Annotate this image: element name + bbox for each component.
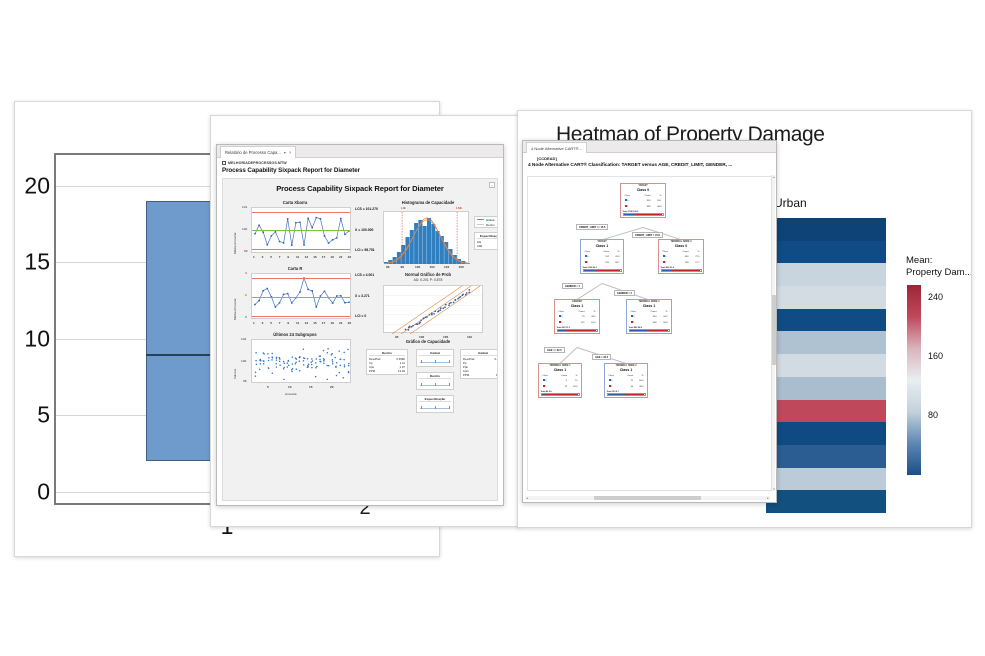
xbar-xtick: 5: [270, 255, 272, 259]
global-box-title: Global: [463, 351, 498, 356]
rchart-ytick-0: 0: [245, 315, 247, 319]
xbar-ytick-0: 99: [244, 249, 247, 253]
cart-node-bar-blue: [608, 394, 626, 395]
cart-node-bar: [661, 269, 702, 272]
cart-node-row: 154855.8: [631, 321, 668, 325]
cart-node[interactable]: TERMINAL NODE 2Class 1ClassCount% 07260.…: [604, 363, 648, 398]
stat-value: 0.4073: [494, 357, 498, 361]
cart-node-bar-red: [596, 270, 620, 271]
class-swatch-icon: [543, 385, 545, 387]
cart-node-cell: Class: [559, 311, 571, 314]
rchart-xtick: 23: [348, 321, 351, 325]
class-swatch-icon: [609, 379, 611, 381]
plot-series: [384, 212, 470, 264]
cart-node-row: 067.5: [543, 379, 578, 383]
rchart-ucl-line: [252, 278, 350, 279]
capability-strip-tick: [449, 406, 450, 409]
plot-series: [252, 208, 352, 254]
cart-node[interactable]: TARGETClass 1ClassCount% 051243.3 167056…: [580, 239, 624, 274]
cart-node-cell: Class: [663, 251, 675, 254]
cart-node-cell: 434: [644, 315, 656, 319]
heatmap-colorbar-tick-160: 160: [928, 351, 943, 361]
capability-strip-tick: [435, 360, 436, 363]
heatmap-colorbar: [907, 285, 921, 475]
rchart-xtick: 9: [287, 321, 289, 325]
cart-node-cell: 1: [625, 205, 637, 209]
rchart-lcl-line: [252, 316, 350, 317]
xbar-panel-title: Carta Xbarra: [235, 200, 355, 205]
cart-node-row: 112261.0: [559, 321, 596, 325]
cart-node-cell: Class: [625, 195, 637, 198]
subgroups-ytick-1: 100: [241, 359, 246, 363]
cart-node-cell: 0: [609, 379, 620, 383]
heatmap-cell: [766, 309, 886, 332]
cart-node-cell: 44.2: [658, 315, 667, 319]
normplot-subtitle: AD: 0.201 P: 0.878: [373, 278, 483, 282]
stat-label: PPM: [463, 373, 469, 377]
legend-swatch-dentro: [477, 224, 484, 225]
xbar-lcl-line: [252, 249, 350, 250]
capability-strip-title: Dentro: [419, 374, 451, 379]
cart-node-bar: [629, 329, 670, 332]
class-swatch-icon: [663, 261, 665, 263]
worksheet-icon: [222, 161, 226, 165]
subgroups-xtick: 20: [330, 385, 333, 389]
cart-node-bar-red: [648, 330, 668, 331]
xbar-ucl-label: LCS = 101.270: [355, 207, 378, 211]
chevron-right-icon[interactable]: ▸: [766, 496, 770, 500]
cart-node-table: ClassCount% 051243.3 167056.7: [583, 249, 622, 267]
cart-split-label: GENDER = 1: [562, 283, 583, 289]
capability-strip-title: Global: [419, 351, 451, 356]
within-row: PPM13.40: [369, 369, 405, 373]
cart-split-label: AGE > 32.5: [592, 354, 611, 360]
heatmap-cell: [766, 377, 886, 400]
capability-panel-title: Gráfico de Capacidade: [373, 339, 483, 344]
heatmap-cell: [766, 241, 886, 264]
class-swatch-icon: [609, 385, 611, 387]
histogram-xtick: 104: [444, 265, 449, 269]
rchart-xtick: 7: [279, 321, 281, 325]
cart-node-table: ClassCount% 043872.3 116827.7: [661, 249, 702, 267]
cart-split-label: GENDER = 2: [614, 290, 635, 296]
cart-node-cell: 72.3: [690, 255, 699, 259]
cart-node-row: 043872.3: [663, 255, 700, 259]
xbar-xtick: 11: [296, 255, 299, 259]
boxplot-ytick-20: 20: [24, 172, 50, 199]
cart-node-cell: 0: [625, 199, 637, 203]
cart-node-cell: 39.0: [586, 315, 595, 319]
cart-node-row: ClassCount%: [559, 311, 596, 314]
subgroups-ytick-2: 102: [241, 337, 246, 341]
boxplot-ytick-15: 15: [24, 249, 50, 276]
boxplot-ytick-5: 5: [37, 402, 50, 429]
class-swatch-icon: [663, 255, 665, 257]
cart-heading: 4 Node Alternative CART® Classification:…: [523, 161, 776, 171]
cart-tree-canvas[interactable]: TARGETClass 0ClassCount% 095053.1 183846…: [527, 176, 772, 491]
spec-row: LSE105: [477, 244, 498, 248]
xbar-xtick: 21: [339, 255, 342, 259]
cart-node-cell: %: [652, 195, 661, 198]
cart-node[interactable]: TERMINAL NODE 2Class 1ClassCount% 043444…: [626, 299, 672, 334]
cart-node-cell: 670: [597, 261, 609, 265]
cart-node-bar-blue: [558, 330, 567, 331]
rchart-xtick: 15: [313, 321, 316, 325]
cart-node-cell: 6: [555, 379, 567, 383]
breadcrumb[interactable]: MELHORIADEPROCESSOS.MTW: [217, 158, 503, 166]
cart-node-cell: 0: [559, 315, 571, 319]
cart-node-cell: %: [611, 251, 620, 254]
histogram-plot: [383, 211, 469, 263]
xbar-center-label: X = 100.000: [355, 228, 373, 232]
histogram-xtick: 98: [401, 265, 404, 269]
cart-tab[interactable]: 4 Node Alternative CART®...: [526, 142, 587, 153]
rchart-ucl-label: LCS = 4.001: [355, 273, 374, 277]
cart-node-table: ClassCount% 043444.2 154855.8: [629, 309, 670, 327]
subgroups-xtick: 5: [267, 385, 269, 389]
xbar-xtick: 3: [262, 255, 264, 259]
minitab-heading: Process Capability Sixpack Report for Di…: [217, 166, 503, 177]
cart-vscroll-thumb[interactable]: [772, 295, 776, 365]
capability-strip-tick: [449, 360, 450, 363]
cart-window-body: [CCDEAD] 4 Node Alternative CART® Classi…: [523, 153, 776, 501]
rchart-xtick: 11: [296, 321, 299, 325]
xbar-xtick: 1: [253, 255, 255, 259]
cart-node-cell: 56.7: [611, 261, 620, 265]
cart-node-cell: 46.9: [652, 205, 661, 209]
heatmap-cell: [766, 218, 886, 241]
cart-node-cell: 438: [676, 255, 688, 259]
cart-node-cell: 7.5: [569, 379, 578, 383]
cart-node-cell: Count: [555, 375, 567, 378]
cart-node-cell: 838: [638, 205, 650, 209]
heatmap-legend-line1: Mean:: [906, 255, 932, 266]
cart-node-cell: %: [569, 375, 578, 378]
histogram-panel-title: Histograma de Capacidade: [373, 200, 483, 205]
cart-node-row: 116827.7: [663, 261, 700, 265]
cart-node-cell: 1: [663, 261, 675, 265]
cart-node-cell: 1: [631, 321, 643, 325]
heatmap-cell: [766, 400, 886, 423]
rchart-xtick: 1: [253, 321, 255, 325]
xbar-xtick: 15: [313, 255, 316, 259]
cart-node-bar-red: [566, 330, 596, 331]
cart-node-cell: 92.5: [569, 385, 578, 389]
cart-node-row: 17492.5: [543, 385, 578, 389]
global-row: PPM12.07: [463, 373, 498, 377]
subgroups-xtick: 15: [309, 385, 312, 389]
chevron-up-icon[interactable]: ▴: [772, 175, 776, 179]
cart-node-cell: 72: [621, 379, 633, 383]
cart-node-cell: %: [690, 251, 699, 254]
cart-node[interactable]: TERMINAL NODE 3Class 0ClassCount% 043872…: [658, 239, 704, 274]
capability-strip-tick: [435, 406, 436, 409]
cart-node-bar-blue: [630, 330, 649, 331]
collapse-icon[interactable]: ▫: [489, 182, 495, 188]
cart-node-cell: 27.7: [690, 261, 699, 265]
capability-strip: Global: [416, 349, 454, 367]
rchart-xtick: 5: [270, 321, 272, 325]
cart-node-cell: 512: [597, 255, 609, 259]
subgroups-xtick: 10: [288, 385, 291, 389]
rchart-ytick-2: 4: [245, 271, 247, 275]
cart-node-bar-red: [635, 214, 662, 215]
heatmap-legend-line2: Property Dam...: [906, 267, 972, 278]
subgroups-plot: [251, 339, 351, 383]
histogram-legend: Global Dentro: [474, 216, 498, 228]
cart-node-cell: 0: [543, 379, 554, 383]
close-icon[interactable]: ×: [289, 150, 291, 155]
cart-node-row: 043444.2: [631, 315, 668, 319]
rchart-xtick: 21: [339, 321, 342, 325]
capability-strip: Dentro: [416, 372, 454, 390]
xbar-xtick: 17: [322, 255, 325, 259]
heatmap-legend-title: Mean: Property Dam...: [906, 255, 972, 279]
stat-label: PPM: [369, 369, 375, 373]
xbar-ytick-1: 100: [242, 227, 247, 231]
sixpack-report-title: Process Capability Sixpack Report for Di…: [223, 184, 497, 193]
sixpack-report-pane: ▫ Process Capability Sixpack Report for …: [222, 178, 498, 501]
cart-node-cell: Count: [676, 251, 688, 254]
cart-node-cell: 0: [585, 255, 596, 259]
capability-strip-tick: [421, 383, 422, 386]
cart-node-row: ClassCount%: [585, 251, 620, 254]
heatmap-cell: [766, 354, 886, 377]
heatmap-cell: [766, 331, 886, 354]
cart-node-table: ClassCount% 07260.0 14840.0: [607, 373, 646, 391]
cart-node-bar-red: [545, 394, 578, 395]
xbar-ucl-line: [252, 212, 350, 213]
xbar-xtick: 7: [279, 255, 281, 259]
cart-node-cell: 40.0: [635, 385, 644, 389]
plot-series: [252, 340, 352, 384]
cart-node-row: ClassCount%: [631, 311, 668, 314]
heatmap-colorbar-tick-240: 240: [928, 292, 943, 302]
cart-node[interactable]: TARGETClass 0ClassCount% 095053.1 183846…: [620, 183, 666, 218]
cart-node-cell: 168: [676, 261, 688, 265]
cart-node-row: 07260.0: [609, 379, 644, 383]
class-swatch-icon: [625, 199, 627, 201]
cart-node-bar: [607, 393, 646, 396]
cart-node-cell: Class: [631, 311, 643, 314]
legend-label-dentro: Dentro: [486, 223, 495, 227]
rchart-center-label: X = 3.271: [355, 294, 370, 298]
capability-global-box: Global DesvPad0.4073Pp1.08Ppk0.96Cpm*PPM…: [460, 349, 498, 379]
cart-node-cell: 61.0: [586, 321, 595, 325]
rchart-panel-title: Carta R: [235, 266, 355, 271]
plot-series: [384, 286, 484, 334]
cart-window[interactable]: 4 Node Alternative CART®... [CCDEAD] 4 N…: [522, 140, 777, 503]
class-swatch-icon: [559, 315, 561, 317]
chevron-down-icon[interactable]: ▾: [772, 487, 776, 491]
heatmap-cell: [766, 468, 886, 491]
minitab-window-body: MELHORIADEPROCESSOS.MTW Process Capabili…: [217, 158, 503, 505]
within-rows: DesvPad0.3966Cp1.11Cpk1.07PPM13.40: [369, 357, 405, 373]
boxplot-ytick-10: 10: [24, 325, 50, 352]
cart-horizontal-scrollbar[interactable]: ◂ ▸: [525, 496, 770, 500]
cart-node-cell: Class: [609, 375, 620, 378]
capability-strip-tick: [449, 383, 450, 386]
cart-split-label: CREDIT_LIMIT > 15.6: [632, 232, 663, 238]
cart-node-table: ClassCount% 067.5 17492.5: [541, 373, 580, 391]
rchart-center-line: [252, 297, 350, 298]
heatmap-colorbar-tick-80: 80: [928, 410, 938, 420]
cart-node-row: 095053.1: [625, 199, 662, 203]
legend-label-global: Global: [486, 218, 494, 222]
cart-split-label: AGE <= 32.5: [544, 347, 565, 353]
subgroups-y-axis-label: Valores: [233, 369, 237, 379]
cart-node-cell: 950: [638, 199, 650, 203]
minitab-tab-label: Relatório de Processo Capa...: [225, 150, 281, 155]
cart-node-cell: Count: [572, 311, 584, 314]
cart-split-label: CREDIT_LIMIT <= 15.6: [576, 224, 608, 230]
cart-tab-label: 4 Node Alternative CART®...: [531, 146, 582, 151]
capability-strip-tick: [435, 383, 436, 386]
histogram-xtick: 102: [430, 265, 435, 269]
xbar-xtick: 9: [287, 255, 289, 259]
rchart-xtick: 3: [262, 321, 264, 325]
cart-node-bar-blue: [662, 270, 673, 271]
cart-node-table: ClassCount% 095053.1 183846.9: [623, 193, 664, 211]
cart-node-row: 14840.0: [609, 385, 644, 389]
class-swatch-icon: [559, 321, 561, 323]
heatmap-cell: [766, 490, 886, 513]
cart-node-bar: [583, 269, 622, 272]
cart-node-cell: 0: [631, 315, 643, 319]
class-swatch-icon: [585, 261, 587, 263]
rchart-lcl-label: LCI = 0: [355, 314, 366, 318]
legend-swatch-global: [477, 219, 484, 220]
xbar-ytick-2: 101: [242, 205, 247, 209]
heatmap-cell: [766, 445, 886, 468]
cart-node-bar-blue: [624, 214, 636, 215]
cart-node-bar-red: [625, 394, 644, 395]
histogram-xtick: 100: [415, 265, 420, 269]
chevron-down-icon[interactable]: ▾: [284, 150, 286, 155]
subgroups-ytick-0: 98: [243, 379, 246, 383]
capability-strip-title: Especificação: [419, 397, 451, 402]
global-rows: DesvPad0.4073Pp1.08Ppk0.96Cpm*PPM12.07: [463, 357, 498, 377]
cart-node-cell: %: [658, 311, 667, 314]
cart-node-cell: 1: [559, 321, 571, 325]
cart-node-bar: [623, 213, 664, 216]
rchart-xtick: 13: [305, 321, 308, 325]
normplot-plot: [383, 285, 483, 333]
boxplot-ytick-0: 0: [37, 478, 50, 505]
screenshot-root: Boxplot 0 5 10 15 20 1 2: [0, 0, 985, 656]
legend-row-dentro: Dentro: [475, 222, 498, 227]
within-box-title: Dentro: [369, 351, 405, 356]
cart-hscroll-thumb[interactable]: [594, 496, 702, 500]
heatmap-grid: [766, 218, 886, 513]
cart-sub-label: [CCDEAD]: [523, 153, 776, 161]
xbar-xtick: 13: [305, 255, 308, 259]
xbar-plot: [251, 207, 351, 253]
heatmap-cell: [766, 422, 886, 445]
cart-tabstrip: 4 Node Alternative CART®...: [523, 141, 776, 153]
cart-node-cell: 1: [585, 261, 596, 265]
capability-within-box: Dentro DesvPad0.3966Cp1.11Cpk1.07PPM13.4…: [366, 349, 408, 375]
cart-node-row: ClassCount%: [663, 251, 700, 254]
xbar-center-line: [252, 230, 350, 231]
capability-strip-tick: [421, 406, 422, 409]
minitab-tab[interactable]: Relatório de Processo Capa... ▾ ×: [220, 146, 296, 158]
cart-node-cell: 48: [621, 385, 633, 389]
cart-node-cell: Count: [621, 375, 633, 378]
class-swatch-icon: [625, 205, 627, 207]
cart-node-row: ClassCount%: [609, 375, 644, 378]
histogram-xtick: 106: [459, 265, 464, 269]
subgroups-panel-title: Últimos 24 Subgrupos: [235, 332, 355, 337]
breadcrumb-label: MELHORIADEPROCESSOS.MTW: [228, 161, 287, 165]
cart-node-row: 07839.0: [559, 315, 596, 319]
stat-value: 13.40: [398, 369, 405, 373]
histogram-lie-mark: LIE: [401, 206, 406, 210]
cart-node-cell: 74: [555, 385, 567, 389]
rchart-xtick: 17: [322, 321, 325, 325]
xbar-lcl-label: LCI = 98.751: [355, 248, 375, 252]
rchart-plot: [251, 273, 351, 319]
heatmap-column-header-urban: Urban: [774, 196, 807, 210]
cart-vertical-scrollbar[interactable]: ▴ ▾: [771, 175, 775, 491]
cart-node-cell: 55.8: [658, 321, 667, 325]
normplot-panel-title: Normal Gráfico de Prob: [373, 272, 483, 277]
stat-label: LSE: [477, 244, 482, 248]
cart-node-cell: %: [586, 311, 595, 314]
histogram-spec-box: Especificações LIE95LSE105: [474, 232, 498, 250]
spec-rows: LIE95LSE105: [477, 240, 498, 248]
class-swatch-icon: [631, 315, 633, 317]
cart-node-cell: 122: [572, 321, 584, 325]
cart-node-row: ClassCount%: [625, 195, 662, 198]
class-swatch-icon: [543, 379, 545, 381]
class-swatch-icon: [631, 321, 633, 323]
cart-node-cell: Count: [638, 195, 650, 198]
cart-node[interactable]: TERMINAL NODE 1Class 1ClassCount% 067.5 …: [538, 363, 582, 398]
class-swatch-icon: [585, 255, 587, 257]
cart-node-cell: 60.0: [635, 379, 644, 383]
rchart-ytick-1: 2: [245, 293, 247, 297]
xbar-y-axis-label: Média Amostral: [233, 233, 237, 254]
cart-node-cell: 1: [609, 385, 620, 389]
stat-value: 12.07: [496, 373, 498, 377]
cart-node-row: 167056.7: [585, 261, 620, 265]
cart-node-cell: %: [635, 375, 644, 378]
histogram-xtick: 96: [386, 265, 389, 269]
cart-node-row: ClassCount%: [543, 375, 578, 378]
subgroups-x-axis-label: Amostra: [285, 392, 297, 396]
cart-node-cell: 1: [543, 385, 554, 389]
cart-node-bar: [541, 393, 580, 396]
xbar-xtick: 19: [330, 255, 333, 259]
cart-node-cell: Count: [644, 311, 656, 314]
cart-node-bar-blue: [584, 270, 597, 271]
cart-node-cell: 548: [644, 321, 656, 325]
cart-node-cell: Count: [597, 251, 609, 254]
cart-node-bar: [557, 329, 598, 332]
cart-node[interactable]: GENDERClass 1ClassCount% 07839.0 112261.…: [554, 299, 600, 334]
minitab-window[interactable]: Relatório de Processo Capa... ▾ × MELHOR…: [216, 144, 504, 506]
cart-node-cell: 53.1: [652, 199, 661, 203]
cart-node-bar-red: [672, 270, 700, 271]
heatmap-cell: [766, 263, 886, 286]
cart-node-cell: Class: [585, 251, 596, 254]
cart-node-cell: 0: [663, 255, 675, 259]
heatmap-cell: [766, 286, 886, 309]
cart-node-row: 183846.9: [625, 205, 662, 209]
cart-node-cell: 78: [572, 315, 584, 319]
chevron-left-icon[interactable]: ◂: [525, 496, 529, 500]
